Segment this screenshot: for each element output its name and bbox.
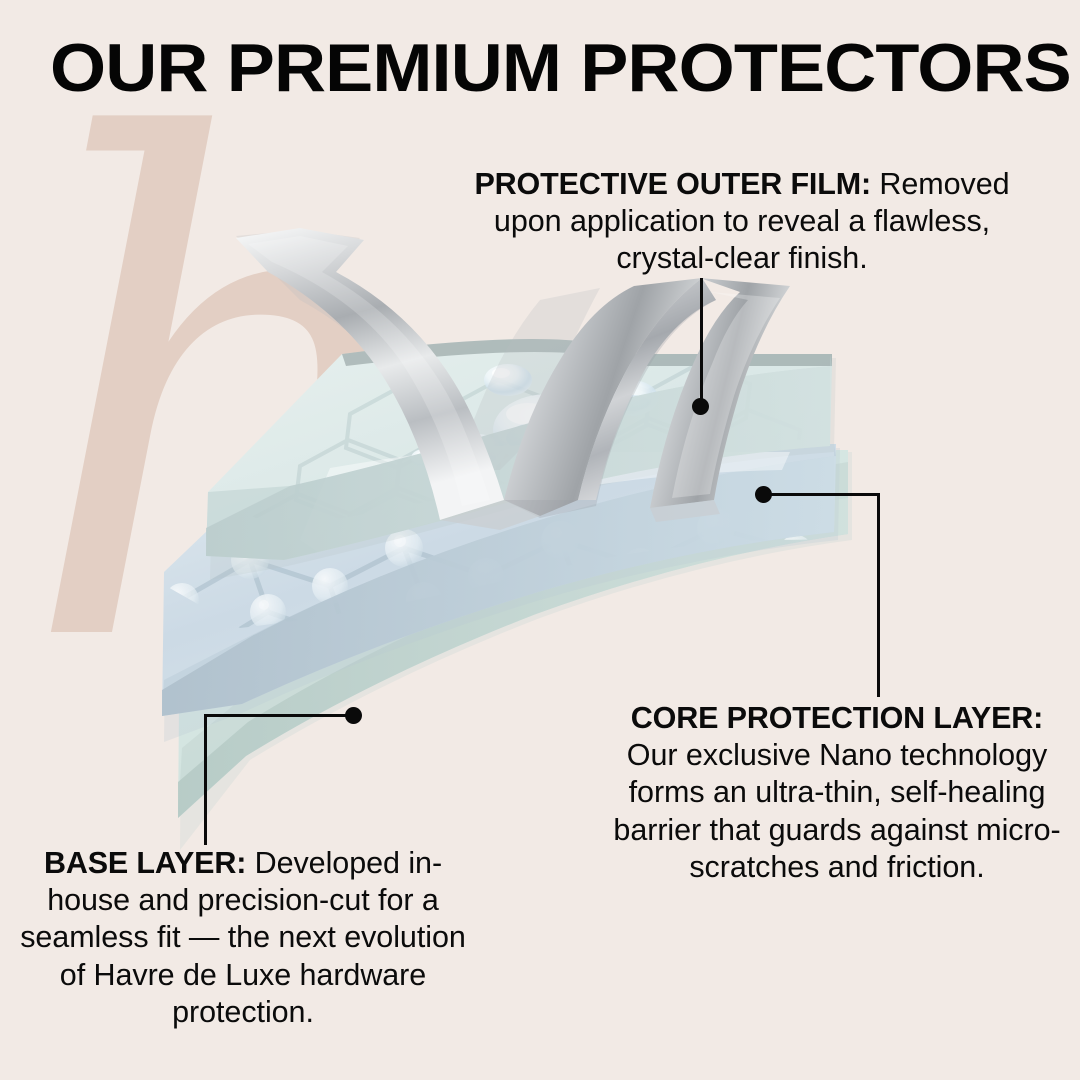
callout-body-core-layer: Our exclusive Nano technology forms an u…: [613, 738, 1060, 884]
callout-label-outer-film: PROTECTIVE OUTER FILM:: [474, 167, 871, 201]
callout-label-core-layer: CORE PROTECTION LAYER:: [631, 701, 1043, 735]
callout-protective-outer-film: PROTECTIVE OUTER FILM: Removed upon appl…: [462, 166, 1022, 278]
page-title: OUR PREMIUM PROTECTORS: [50, 34, 1080, 102]
leader-line-base-layer-horizontal: [204, 714, 351, 717]
leader-line-outer-film-vertical: [700, 278, 703, 404]
callout-dot-outer-film: [692, 398, 709, 415]
callout-core-protection-layer: CORE PROTECTION LAYER: Our exclusive Nan…: [606, 700, 1068, 886]
leader-line-base-layer-vertical: [204, 714, 207, 845]
callout-base-layer: BASE LAYER: Developed in-house and preci…: [8, 845, 478, 1031]
leader-line-core-layer-vertical: [877, 493, 880, 697]
leader-line-core-layer-horizontal: [769, 493, 880, 496]
infographic-canvas: h: [0, 0, 1080, 1080]
water-droplets: [411, 364, 658, 497]
brand-watermark-letter: h: [18, 58, 442, 738]
callout-label-base-layer: BASE LAYER:: [44, 846, 246, 880]
